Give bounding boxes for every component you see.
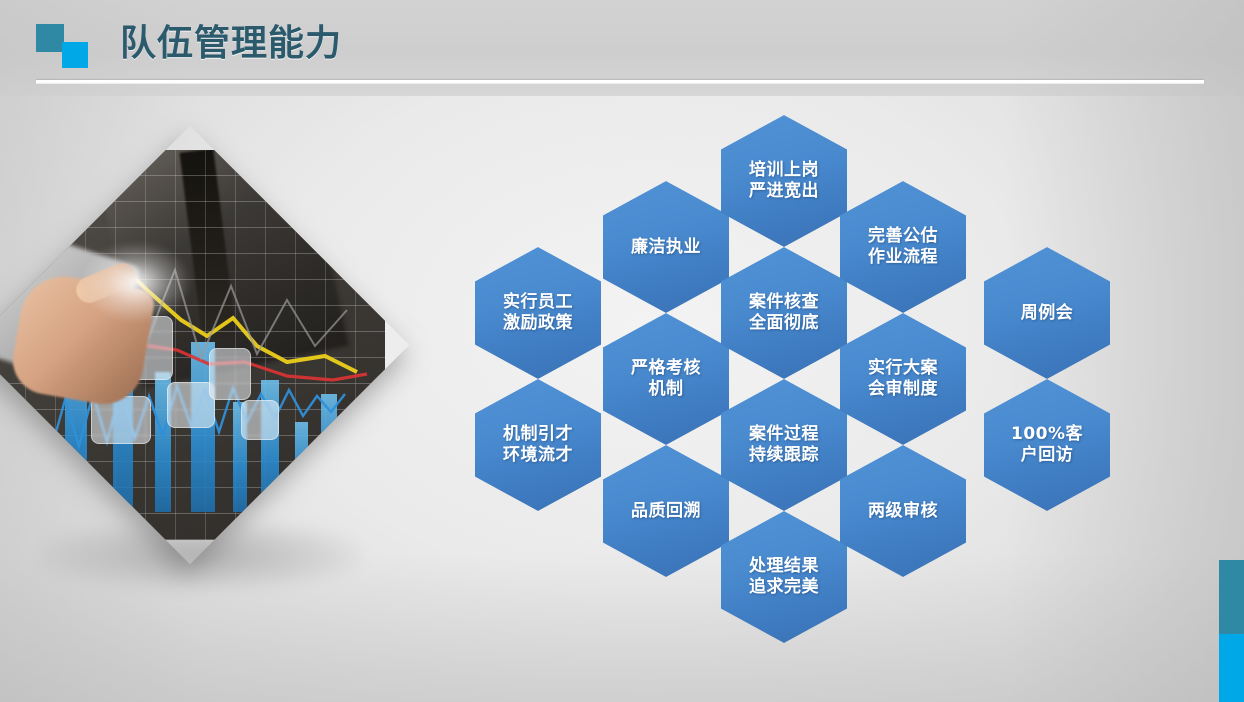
hexagon-tile[interactable]: 处理结果 追求完美 — [721, 511, 847, 643]
hexagon-label: 处理结果 追求完美 — [741, 556, 827, 598]
hexagon-tile[interactable]: 实行大案 会审制度 — [840, 313, 966, 445]
hexagon-label: 品质回溯 — [623, 501, 709, 522]
hexagon-tile[interactable]: 100%客 户回访 — [984, 379, 1110, 511]
hexagon-label: 案件过程 持续跟踪 — [741, 424, 827, 466]
photo-touch-glow — [81, 242, 191, 322]
logo-square-dark-icon — [36, 24, 64, 52]
hexagon-tile[interactable]: 严格考核 机制 — [603, 313, 729, 445]
hexagon-label: 案件核查 全面彻底 — [741, 292, 827, 334]
hexagon-tile[interactable]: 廉洁执业 — [603, 181, 729, 313]
background-shade-bottom — [0, 552, 1244, 702]
photo-card — [241, 400, 279, 440]
hexagon-label: 周例会 — [1013, 303, 1082, 324]
hexagon-tile[interactable]: 案件过程 持续跟踪 — [721, 379, 847, 511]
hexagon-tile[interactable]: 培训上岗 严进宽出 — [721, 115, 847, 247]
presentation-slide: 队伍管理能力 实行员工 激励政策机制引才 环境流才廉洁执业严格考核 机制品质回溯… — [0, 0, 1244, 702]
hexagon-tile[interactable]: 实行员工 激励政策 — [475, 247, 601, 379]
hexagon-label: 两级审核 — [860, 501, 946, 522]
hexagon-label: 廉洁执业 — [623, 237, 709, 258]
logo-mark — [36, 24, 98, 68]
hexagon-label: 机制引才 环境流才 — [495, 424, 581, 466]
photo-card — [209, 348, 251, 400]
hexagon-label: 实行员工 激励政策 — [495, 292, 581, 334]
hexagon-tile[interactable]: 完善公估 作业流程 — [840, 181, 966, 313]
hexagon-tile[interactable]: 案件核查 全面彻底 — [721, 247, 847, 379]
hexagon-label: 严格考核 机制 — [623, 358, 709, 400]
hexagon-label: 实行大案 会审制度 — [860, 358, 946, 400]
hexagon-tile[interactable]: 机制引才 环境流才 — [475, 379, 601, 511]
hexagon-label: 完善公估 作业流程 — [860, 226, 946, 268]
logo-square-light-icon — [62, 42, 88, 68]
hexagon-tile[interactable]: 两级审核 — [840, 445, 966, 577]
corner-accent-bottom — [1219, 634, 1244, 702]
diamond-photo-frame — [0, 126, 409, 564]
hexagon-label: 100%客 户回访 — [1003, 424, 1091, 466]
hexagon-tile[interactable]: 周例会 — [984, 247, 1110, 379]
hexagon-tile[interactable]: 品质回溯 — [603, 445, 729, 577]
page-title: 队伍管理能力 — [120, 18, 342, 70]
business-analytics-photo — [0, 150, 385, 540]
title-divider-rule — [36, 80, 1204, 84]
corner-accent-top — [1219, 560, 1244, 634]
photo-card — [167, 382, 215, 428]
hexagon-label: 培训上岗 严进宽出 — [741, 160, 827, 202]
